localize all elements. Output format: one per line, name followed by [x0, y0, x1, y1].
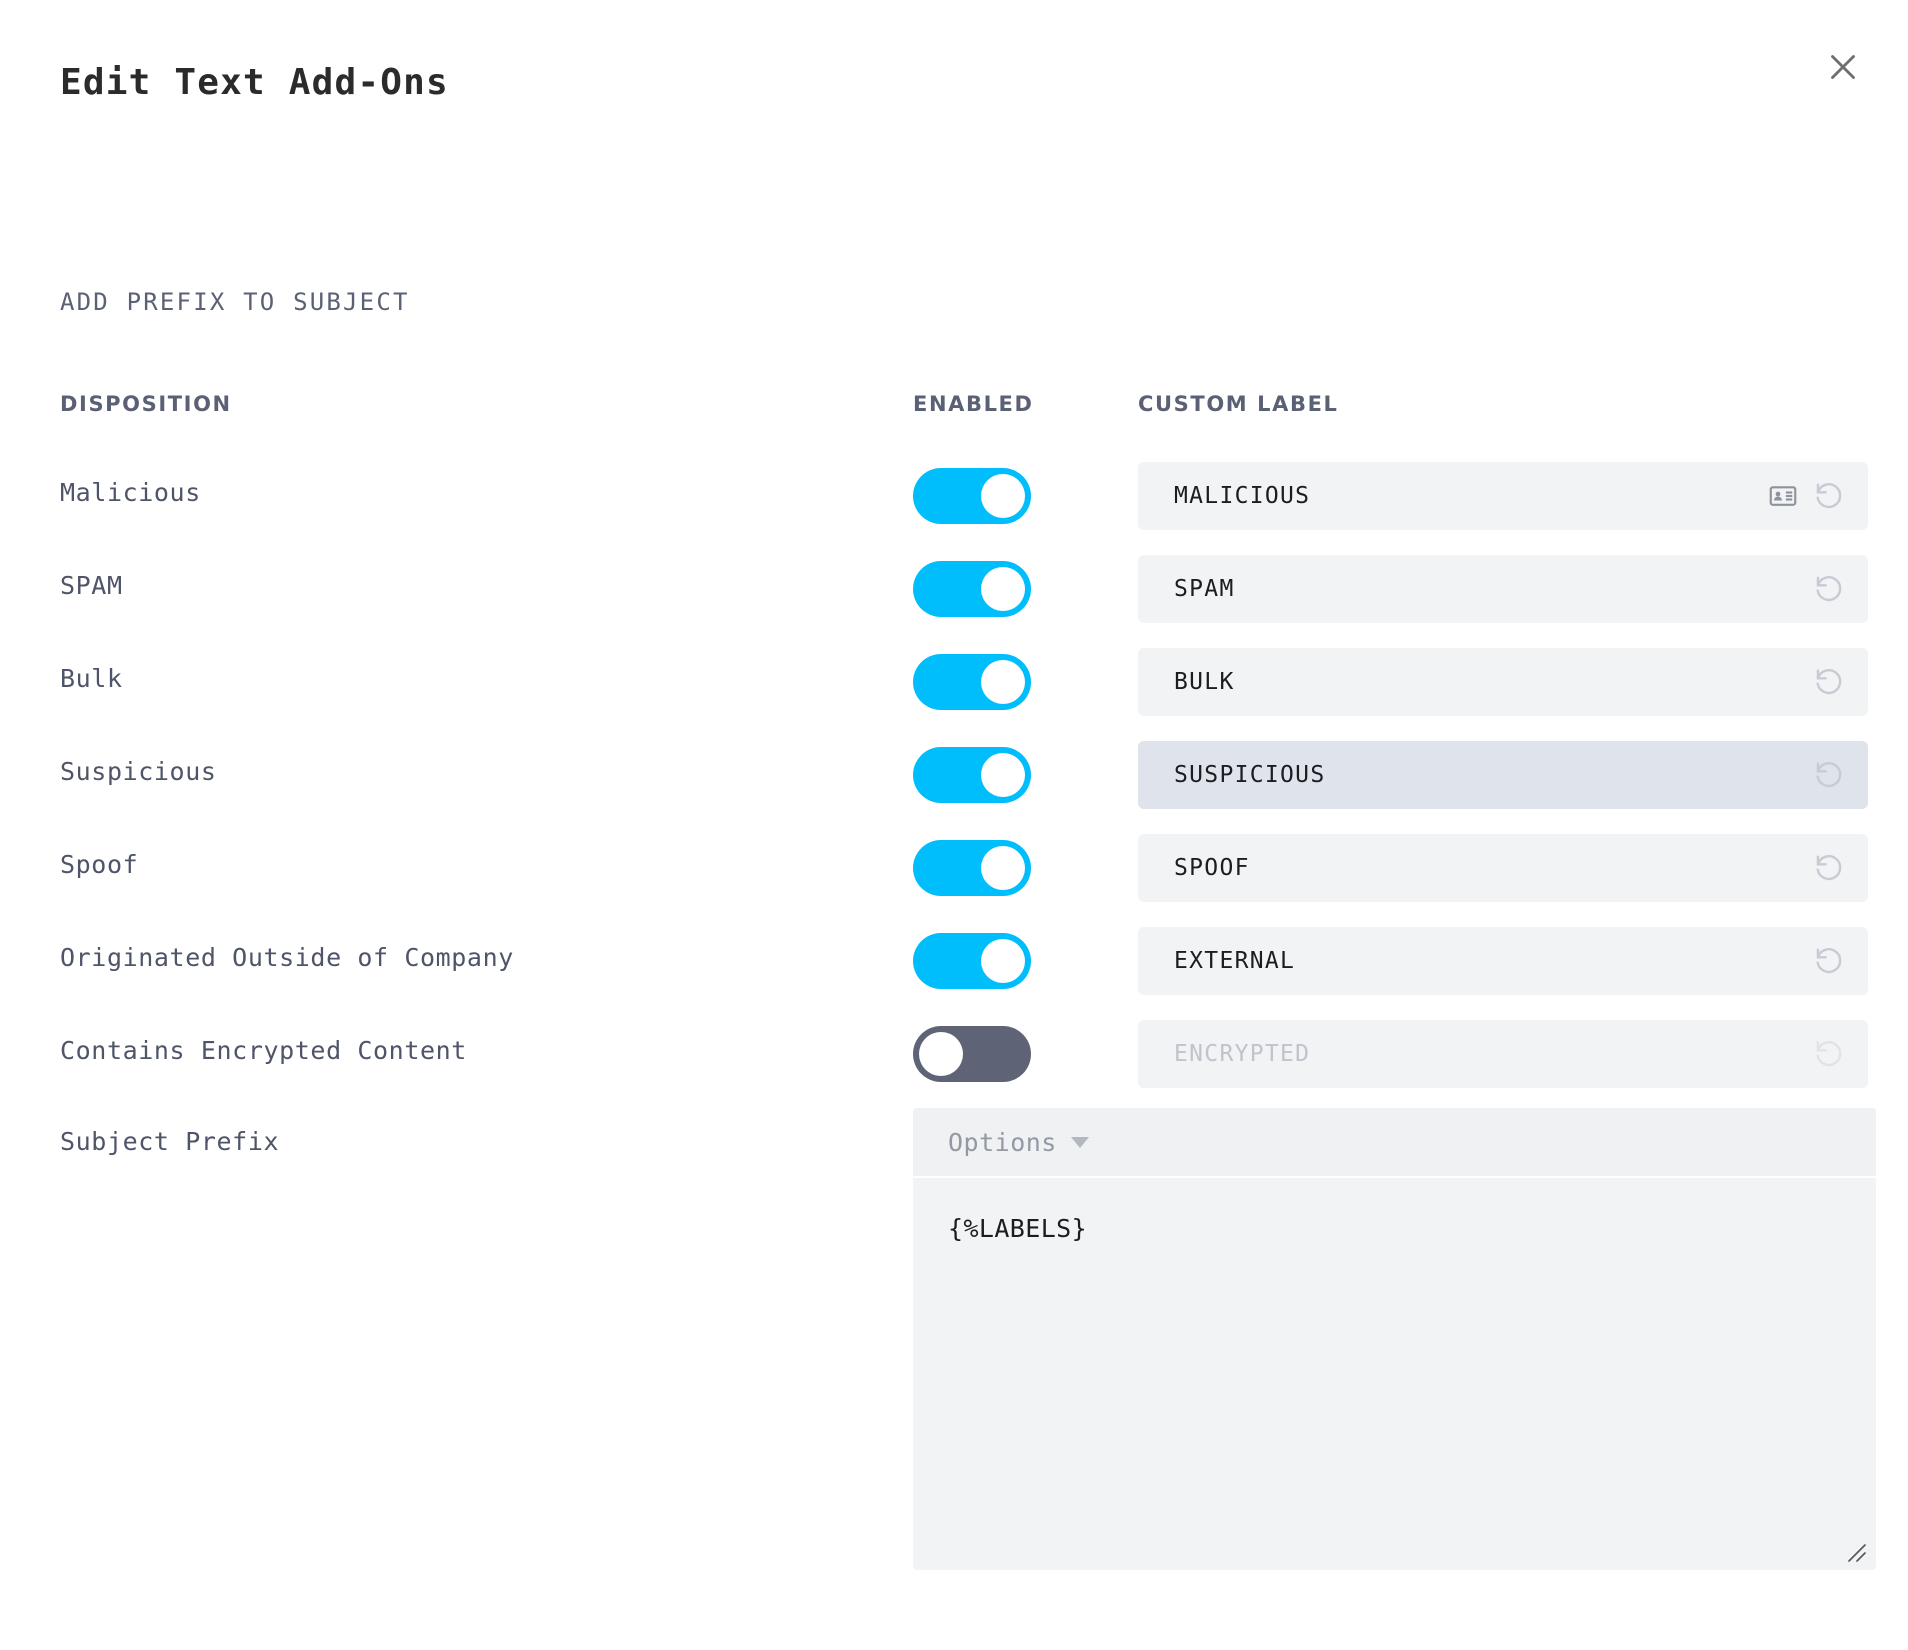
enabled-toggle[interactable]	[913, 654, 1031, 710]
custom-label-input[interactable]: SPOOF	[1138, 834, 1868, 902]
reset-icon[interactable]	[1812, 1037, 1846, 1071]
disposition-label: Contains Encrypted Content	[60, 1036, 467, 1065]
dialog-header: Edit Text Add-Ons	[0, 0, 1908, 160]
field-icon-group	[1812, 555, 1846, 623]
section-title: ADD PREFIX TO SUBJECT	[60, 288, 410, 316]
close-button[interactable]	[1816, 40, 1870, 94]
custom-label-value: MALICIOUS	[1174, 483, 1310, 509]
toggle-knob	[919, 1032, 963, 1076]
enabled-toggle[interactable]	[913, 1026, 1031, 1082]
field-icon-group	[1768, 462, 1846, 530]
page-title: Edit Text Add-Ons	[60, 62, 449, 103]
toggle-knob	[981, 939, 1025, 983]
reset-icon[interactable]	[1812, 665, 1846, 699]
disposition-label: Spoof	[60, 850, 138, 879]
custom-label-value: EXTERNAL	[1174, 948, 1295, 974]
enabled-toggle[interactable]	[913, 840, 1031, 896]
enabled-toggle[interactable]	[913, 747, 1031, 803]
close-icon	[1825, 49, 1861, 85]
toggle-knob	[981, 753, 1025, 797]
custom-label-input[interactable]: ENCRYPTED	[1138, 1020, 1868, 1088]
toggle-knob	[981, 660, 1025, 704]
subject-prefix-textarea[interactable]: {%LABELS}	[913, 1176, 1876, 1570]
toggle-knob	[981, 846, 1025, 890]
enabled-toggle[interactable]	[913, 933, 1031, 989]
toggle-knob	[981, 567, 1025, 611]
custom-label-input[interactable]: EXTERNAL	[1138, 927, 1868, 995]
reset-icon[interactable]	[1812, 572, 1846, 606]
toggle-knob	[981, 474, 1025, 518]
disposition-label: Malicious	[60, 478, 201, 507]
column-header-disposition: DISPOSITION	[60, 392, 232, 416]
chevron-down-icon	[1071, 1137, 1089, 1148]
options-dropdown[interactable]: Options	[913, 1108, 1876, 1176]
edit-text-addons-dialog: Edit Text Add-Ons ADD PREFIX TO SUBJECT …	[0, 0, 1908, 1650]
table-row: MaliciousMALICIOUS	[0, 452, 1908, 545]
reset-icon[interactable]	[1812, 758, 1846, 792]
reset-icon[interactable]	[1812, 944, 1846, 978]
disposition-label: Originated Outside of Company	[60, 943, 514, 972]
table-row: BulkBULK	[0, 638, 1908, 731]
custom-label-input[interactable]: SPAM	[1138, 555, 1868, 623]
subject-prefix-editor: Options {%LABELS}	[913, 1108, 1876, 1570]
enabled-toggle[interactable]	[913, 468, 1031, 524]
custom-label-value: SUSPICIOUS	[1174, 762, 1325, 788]
table-row: SPAMSPAM	[0, 545, 1908, 638]
disposition-rows: MaliciousMALICIOUSSPAMSPAMBulkBULKSuspic…	[0, 452, 1908, 1103]
field-icon-group	[1812, 927, 1846, 995]
enabled-toggle[interactable]	[913, 561, 1031, 617]
field-icon-group	[1812, 1020, 1846, 1088]
custom-label-input[interactable]: MALICIOUS	[1138, 462, 1868, 530]
disposition-label: SPAM	[60, 571, 123, 600]
options-dropdown-label: Options	[948, 1128, 1057, 1157]
table-row: Originated Outside of CompanyEXTERNAL	[0, 917, 1908, 1010]
field-icon-group	[1812, 648, 1846, 716]
disposition-label: Bulk	[60, 664, 123, 693]
field-icon-group	[1812, 741, 1846, 809]
table-row: Contains Encrypted ContentENCRYPTED	[0, 1010, 1908, 1103]
custom-label-value: BULK	[1174, 669, 1235, 695]
custom-label-value: ENCRYPTED	[1174, 1041, 1310, 1067]
reset-icon[interactable]	[1812, 479, 1846, 513]
subject-prefix-label: Subject Prefix	[60, 1127, 279, 1156]
field-icon-group	[1812, 834, 1846, 902]
subject-prefix-value: {%LABELS}	[948, 1214, 1087, 1243]
custom-label-value: SPAM	[1174, 576, 1235, 602]
custom-label-input[interactable]: BULK	[1138, 648, 1868, 716]
custom-label-input[interactable]: SUSPICIOUS	[1138, 741, 1868, 809]
resize-handle-icon[interactable]	[1844, 1540, 1870, 1566]
column-header-enabled: ENABLED	[913, 392, 1034, 416]
reset-icon[interactable]	[1812, 851, 1846, 885]
column-header-custom-label: CUSTOM LABEL	[1138, 392, 1339, 416]
disposition-label: Suspicious	[60, 757, 217, 786]
custom-label-value: SPOOF	[1174, 855, 1250, 881]
table-row: SuspiciousSUSPICIOUS	[0, 731, 1908, 824]
table-row: SpoofSPOOF	[0, 824, 1908, 917]
contact-card-icon[interactable]	[1768, 481, 1798, 511]
